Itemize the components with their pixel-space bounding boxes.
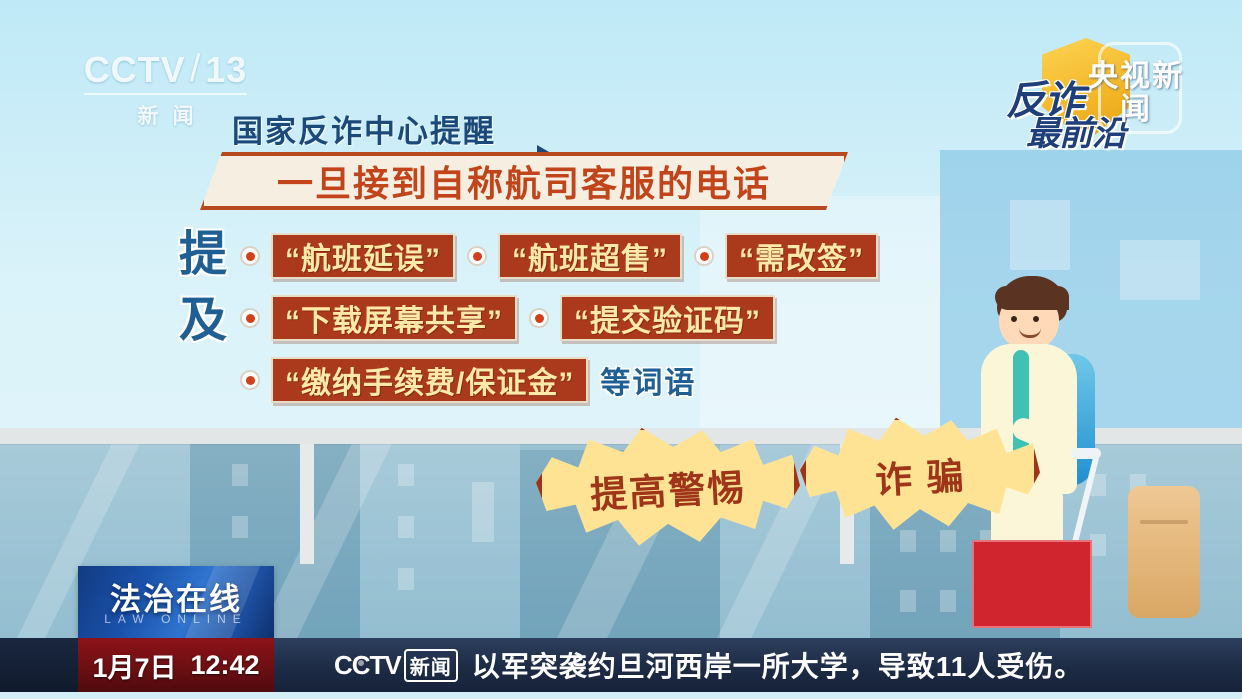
program-title-en: LAW ONLINE (78, 612, 274, 626)
red-placeholder-panel (972, 540, 1092, 628)
railing-post (300, 444, 314, 564)
keyword-tag: “航班超售” (498, 233, 682, 279)
headline-kicker-text: 国家反诈中心提醒 (232, 106, 496, 151)
program-logo-watermark: 央视新闻 (1080, 60, 1192, 126)
ticker-left-strip (0, 638, 78, 692)
keyword-row: “下载屏幕共享” “提交验证码” (240, 292, 1070, 344)
bullet-dot-icon (240, 370, 260, 390)
channel-logo-name: CCTV (84, 49, 186, 91)
ticker-logo-sub: 新闻 (404, 649, 458, 682)
headline-banner-text: 一旦接到自称航司客服的电话 (277, 155, 771, 207)
vertical-label-char-1: 提 (179, 228, 227, 282)
channel-logo-cctv13: CCTV / 13 新闻 (78, 48, 253, 120)
hair-fringe-shape (995, 286, 1069, 310)
rolling-suitcase (1128, 486, 1200, 618)
channel-logo-slash: / (190, 48, 202, 91)
keyword-tag: “航班延误” (271, 233, 455, 279)
keyword-row: “航班延误” “航班超售” “需改签” (240, 230, 1070, 282)
headline-banner: 一旦接到自称航司客服的电话 (200, 152, 848, 210)
news-ticker: 1月7日 12:42 CCTV 新闻 以军突袭约旦河西岸一所大学，导致11人受伤… (78, 638, 1242, 692)
channel-logo-underline (84, 93, 247, 95)
keyword-tag: “提交验证码” (560, 295, 775, 341)
keyword-tag: “下载屏幕共享” (271, 295, 517, 341)
ticker-logo-main: CCTV (334, 650, 401, 681)
vertical-label-mention: 提 及 (172, 228, 234, 348)
eye-right (1033, 316, 1039, 322)
ticker-time: 12:42 (190, 650, 259, 681)
keyword-tag-text: “缴纳手续费/保证金” (285, 358, 574, 402)
bullet-dot-icon (240, 308, 260, 328)
keyword-tag: “需改签” (725, 233, 878, 279)
ticker-separator-dot (358, 660, 364, 666)
channel-logo-number: 13 (205, 49, 247, 91)
bullet-dot-icon (467, 246, 487, 266)
keyword-rows: “航班延误” “航班超售” “需改签” “下载屏幕共享” “提交验证码” “缴纳… (240, 230, 1070, 416)
program-logo-anti-fraud: 反诈 最前沿 央视新闻 (1006, 34, 1196, 146)
bullet-dot-icon (694, 246, 714, 266)
background-shape (1120, 240, 1200, 300)
starburst-callout-text: 提高警惕 (589, 457, 748, 519)
keyword-tag-text: “提交验证码” (574, 296, 761, 340)
program-title-banner: 法治在线 LAW ONLINE (78, 566, 274, 638)
keyword-tag-text: “航班延误” (285, 234, 441, 278)
keyword-tag-text: “下载屏幕共享” (285, 296, 503, 340)
bullet-dot-icon (240, 246, 260, 266)
keyword-tag: “缴纳手续费/保证金” (271, 357, 588, 403)
bullet-dot-icon (529, 308, 549, 328)
ticker-datetime: 1月7日 12:42 (78, 638, 274, 692)
traveler-illustration (975, 276, 1095, 576)
keyword-tag-text: “需改签” (739, 234, 864, 278)
channel-logo-sub: 新闻 (78, 100, 253, 130)
ticker-date: 1月7日 (92, 646, 176, 685)
ticker-cctv-logo: CCTV 新闻 (334, 649, 458, 682)
keyword-tag-text: “航班超售” (512, 234, 668, 278)
keyword-row-suffix: 等词语 (600, 358, 696, 402)
ticker-headline-text: 以军突袭约旦河西岸一所大学，导致11人受伤。 (472, 645, 1084, 685)
eye-left (1011, 316, 1017, 322)
suitcase-handle-grip (1071, 448, 1101, 459)
starburst-callout-text: 诈 骗 (874, 446, 967, 505)
keyword-row: “缴纳手续费/保证金” 等词语 (240, 354, 1070, 406)
vertical-label-char-2: 及 (179, 294, 227, 348)
suitcase-stripe (1140, 520, 1188, 524)
ticker-body: CCTV 新闻 以军突袭约旦河西岸一所大学，导致11人受伤。 (274, 645, 1242, 685)
broadcast-screen: CCTV / 13 新闻 反诈 最前沿 央视新闻 国家反诈中心提醒 一旦接到自称… (0, 0, 1242, 699)
